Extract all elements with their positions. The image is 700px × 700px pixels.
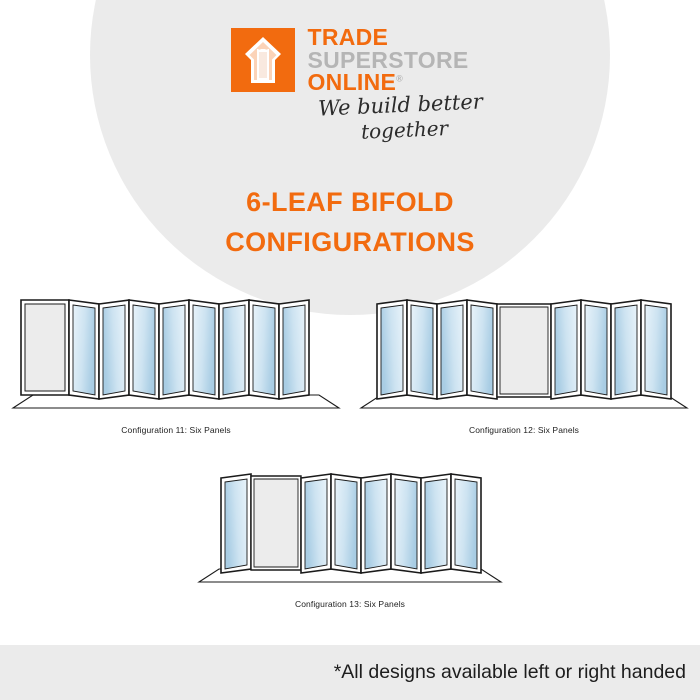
diagram-row-top: Configuration 11: Six Panels bbox=[0, 296, 700, 435]
footer-bar: *All designs available left or right han… bbox=[0, 645, 700, 700]
brand-logo: TRADE SUPERSTORE ONLINE® We build better… bbox=[0, 22, 700, 94]
diagram-row-bottom: Configuration 13: Six Panels bbox=[0, 470, 700, 609]
door-diagram-13 bbox=[185, 470, 515, 595]
page-title-line-2: CONFIGURATIONS bbox=[0, 223, 700, 263]
poster-page: TRADE SUPERSTORE ONLINE® We build better… bbox=[0, 0, 700, 700]
configuration-card-12: Configuration 12: Six Panels bbox=[356, 296, 692, 435]
registered-trademark-icon: ® bbox=[396, 73, 403, 83]
configuration-caption-11: Configuration 11: Six Panels bbox=[8, 425, 344, 435]
house-door-logo-icon bbox=[231, 28, 295, 92]
page-title: 6-LEAF BIFOLD CONFIGURATIONS bbox=[0, 183, 700, 263]
configuration-caption-13: Configuration 13: Six Panels bbox=[182, 599, 518, 609]
door-diagram-11 bbox=[11, 296, 341, 421]
configuration-card-13: Configuration 13: Six Panels bbox=[182, 470, 518, 609]
configuration-card-11: Configuration 11: Six Panels bbox=[8, 296, 344, 435]
brand-wordmark: TRADE SUPERSTORE ONLINE® bbox=[307, 22, 468, 94]
brand-line-online: ONLINE bbox=[307, 71, 396, 94]
configuration-caption-12: Configuration 12: Six Panels bbox=[356, 425, 692, 435]
door-diagram-12 bbox=[359, 296, 689, 421]
configuration-diagrams: Configuration 11: Six Panels bbox=[0, 296, 700, 609]
brand-line-trade: TRADE bbox=[307, 26, 468, 49]
footer-note: *All designs available left or right han… bbox=[334, 661, 700, 684]
page-title-line-1: 6-LEAF BIFOLD bbox=[0, 183, 700, 223]
brand-line-superstore: SUPERSTORE bbox=[307, 49, 468, 72]
